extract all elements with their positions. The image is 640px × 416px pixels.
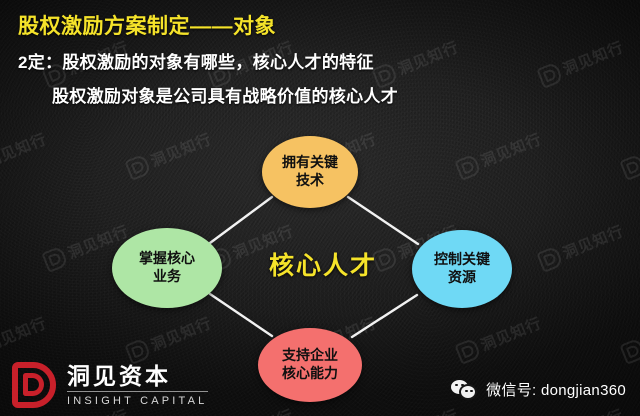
node-right-line2: 资源 [448,269,476,287]
node-left-line2: 业务 [153,268,181,286]
node-top[interactable]: 拥有关键 技术 [262,136,358,208]
node-bottom-line1: 支持企业 [282,347,338,365]
connector-left-bottom [210,294,272,336]
node-left[interactable]: 掌握核心 业务 [112,228,222,308]
diagram-center-label: 核心人才 [243,246,403,282]
node-right-line1: 控制关键 [434,251,490,269]
brand-logo: 洞见资本 INSIGHT CAPITAL [12,362,208,408]
node-bottom[interactable]: 支持企业 核心能力 [258,328,362,402]
node-top-line2: 技术 [296,172,324,190]
brand-name-cn: 洞见资本 [67,363,208,392]
wechat-icon [451,380,477,399]
slide-canvas: 洞见知行洞见知行洞见知行洞见知行洞见知行洞见知行洞见知行洞见知行洞见知行洞见知行… [0,0,640,416]
wechat-id-label: 微信号: dongjian360 [486,379,626,400]
brand-text: 洞见资本 INSIGHT CAPITAL [67,363,208,407]
node-top-line1: 拥有关键 [282,154,338,172]
d-logo-icon [12,362,56,408]
node-right[interactable]: 控制关键 资源 [412,230,512,308]
connector-top-right [348,197,418,244]
connector-top-left [210,197,272,243]
core-talent-diagram: 拥有关键 技术 掌握核心 业务 控制关键 资源 支持企业 核心能力 核心人才 [0,0,640,416]
wechat-info: 微信号: dongjian360 [451,379,626,400]
brand-name-en: INSIGHT CAPITAL [67,395,208,407]
connector-right-bottom [352,295,417,337]
node-left-line1: 掌握核心 [139,250,195,268]
node-bottom-line2: 核心能力 [282,365,338,383]
